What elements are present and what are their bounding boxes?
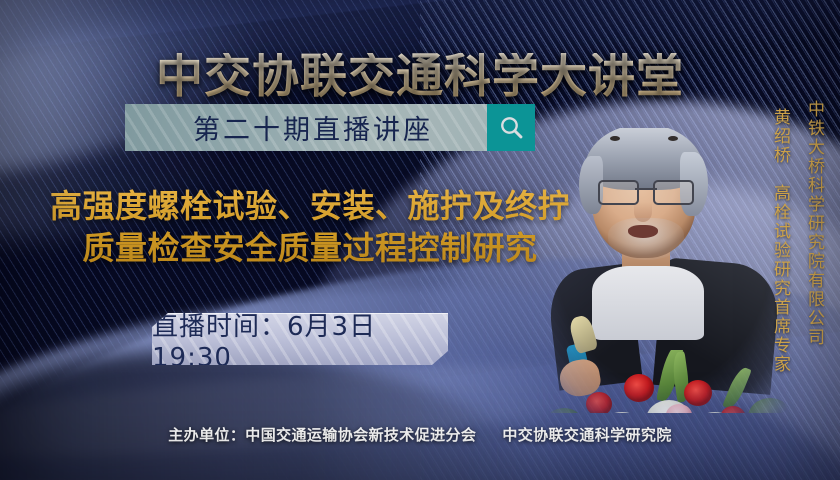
broadcast-time-chip: 直播时间：6月3日19:30	[152, 313, 448, 365]
portrait-eye-right	[668, 136, 678, 141]
portrait-nose	[634, 202, 652, 222]
portrait-mouth	[628, 225, 658, 238]
portrait-eye-left	[610, 136, 620, 141]
organizer-name-2: 中交协联交通科学研究院	[502, 426, 671, 444]
glasses-icon	[598, 180, 694, 201]
lecture-topic-line-1: 高强度螺栓试验、安装、施拧及终拧	[50, 187, 570, 225]
organizer-name-1: 中国交通运输协会新技术促进分会	[245, 426, 476, 444]
bouquet-greenery	[548, 408, 584, 413]
glasses-lens-right	[653, 180, 694, 205]
glasses-bridge	[635, 188, 657, 190]
lecture-topic: 高强度螺栓试验、安装、施拧及终拧 质量检查安全质量过程控制研究	[10, 186, 610, 269]
flower-bouquet	[548, 350, 798, 413]
bouquet-red-flower	[624, 374, 654, 402]
lecture-topic-line-2: 质量检查安全质量过程控制研究	[10, 228, 610, 270]
bouquet-red-flower	[586, 392, 612, 413]
speaker-name-role: 黄绍桥 高栓试验研究首席专家	[768, 108, 793, 374]
speaker-organization: 中铁大桥科学研究院有限公司	[802, 100, 827, 347]
bouquet-red-flower	[720, 406, 746, 413]
bouquet-red-flower	[684, 380, 712, 406]
organizer-label: 主办单位：	[168, 426, 245, 444]
speaker-portrait	[548, 128, 798, 413]
page-title: 中交协联交通科学大讲堂	[0, 53, 840, 100]
search-icon[interactable]	[487, 104, 535, 151]
webinar-poster: 中交协联交通科学大讲堂 第二十期直播讲座 高强度螺栓试验、安装、施拧及终拧 质量…	[0, 0, 840, 480]
bouquet-greenery	[748, 398, 792, 413]
episode-banner: 第二十期直播讲座	[125, 104, 535, 151]
broadcast-time-text: 直播时间：6月3日19:30	[152, 306, 448, 373]
footer-organizers: 主办单位：中国交通运输协会新技术促进分会中交协联交通科学研究院	[0, 424, 840, 445]
bouquet-leaf	[722, 365, 751, 411]
episode-label: 第二十期直播讲座	[193, 108, 467, 147]
portrait-shirt	[592, 266, 704, 340]
